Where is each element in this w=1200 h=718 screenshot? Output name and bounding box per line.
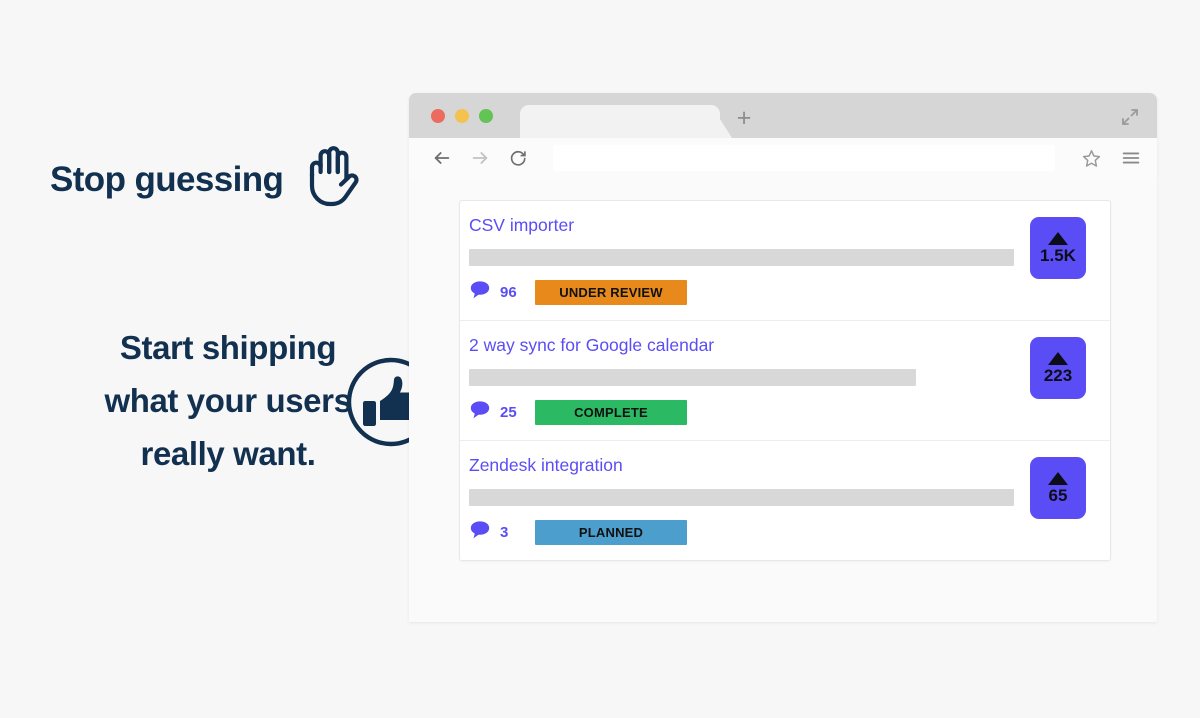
status-badge: PLANNED: [535, 520, 687, 545]
upvote-button[interactable]: 223: [1030, 337, 1086, 399]
browser-viewport: CSV importer 96 UNDER REVIEW: [409, 178, 1157, 622]
comment-count: 25: [500, 404, 517, 421]
browser-toolbar: [409, 138, 1157, 178]
upvote-button[interactable]: 65: [1030, 457, 1086, 519]
comment-count-group[interactable]: 3: [469, 519, 523, 546]
window-minimize-button[interactable]: [455, 109, 469, 123]
browser-titlebar: +: [409, 93, 1157, 138]
feedback-row-content: 2 way sync for Google calendar 25 COMPLE…: [469, 335, 1030, 426]
new-tab-button[interactable]: +: [731, 106, 757, 132]
comment-bubble-icon: [469, 519, 491, 546]
comment-count-group[interactable]: 25: [469, 399, 523, 426]
feedback-title[interactable]: 2 way sync for Google calendar: [469, 335, 1014, 356]
arrow-left-icon[interactable]: [431, 147, 453, 169]
hamburger-menu-icon[interactable]: [1119, 146, 1143, 170]
vote-count: 1.5K: [1040, 247, 1076, 264]
status-badge: UNDER REVIEW: [535, 280, 687, 305]
comment-count: 3: [500, 524, 508, 541]
reload-icon[interactable]: [507, 147, 529, 169]
raised-hand-icon: [297, 146, 365, 208]
comment-bubble-icon: [469, 279, 491, 306]
arrow-right-icon[interactable]: [469, 147, 491, 169]
address-bar-input[interactable]: [553, 145, 1055, 171]
feedback-row[interactable]: 2 way sync for Google calendar 25 COMPLE…: [460, 321, 1110, 441]
feedback-row-content: Zendesk integration 3 PLANNED: [469, 455, 1030, 546]
feedback-title[interactable]: CSV importer: [469, 215, 1014, 236]
feedback-row-meta: 96 UNDER REVIEW: [469, 279, 1014, 306]
browser-window: +: [409, 93, 1157, 622]
status-badge: COMPLETE: [535, 400, 687, 425]
feedback-description-placeholder: [469, 249, 1014, 266]
comment-count-group[interactable]: 96: [469, 279, 523, 306]
comment-count: 96: [500, 284, 517, 301]
upvote-arrow-icon: [1048, 232, 1068, 245]
window-traffic-lights: [431, 109, 493, 123]
feedback-row[interactable]: Zendesk integration 3 PLANNED: [460, 441, 1110, 560]
feedback-description-placeholder: [469, 369, 916, 386]
expand-arrows-icon[interactable]: [1119, 106, 1141, 128]
upvote-arrow-icon: [1048, 352, 1068, 365]
feedback-description-placeholder: [469, 489, 1014, 506]
window-close-button[interactable]: [431, 109, 445, 123]
vote-count: 65: [1049, 487, 1068, 504]
comment-bubble-icon: [469, 399, 491, 426]
window-maximize-button[interactable]: [479, 109, 493, 123]
browser-tab[interactable]: [520, 105, 720, 138]
headline-one-text: Stop guessing: [50, 161, 283, 200]
feedback-list: CSV importer 96 UNDER REVIEW: [459, 200, 1111, 561]
feedback-row-meta: 25 COMPLETE: [469, 399, 1014, 426]
upvote-button[interactable]: 1.5K: [1030, 217, 1086, 279]
star-icon[interactable]: [1079, 146, 1103, 170]
feedback-row-meta: 3 PLANNED: [469, 519, 1014, 546]
upvote-arrow-icon: [1048, 472, 1068, 485]
feedback-row[interactable]: CSV importer 96 UNDER REVIEW: [460, 201, 1110, 321]
headline-stop-guessing: Stop guessing: [50, 152, 400, 208]
vote-count: 223: [1044, 367, 1072, 384]
feedback-row-content: CSV importer 96 UNDER REVIEW: [469, 215, 1030, 306]
feedback-title[interactable]: Zendesk integration: [469, 455, 1014, 476]
